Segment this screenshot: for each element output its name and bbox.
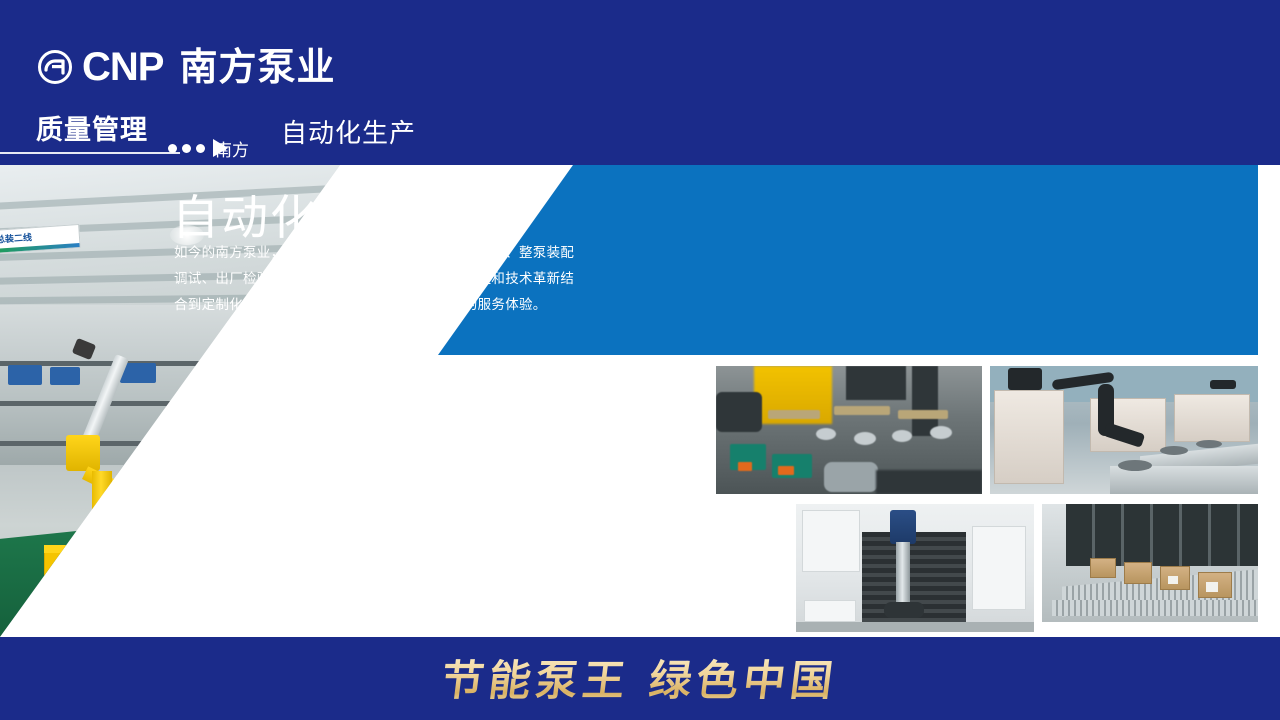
nav-secondary-title[interactable]: 自动化生产 [281,113,416,150]
photo-grid [716,366,1258,632]
panel-title: 自动化生产 [172,179,417,248]
slide-footer: 节能泵王 绿色中国 [0,637,1280,720]
footer-slogan: 节能泵王 绿色中国 [0,647,1280,708]
panel-body-text: 如今的南方泵业，将自动化技术覆盖到零部件加工生产、整泵装配 调试、出厂检验等诸多… [174,240,784,318]
slide-header: CNP 南方泵业 质量管理 南方 自动化生产 [0,0,1280,165]
nav-primary-title[interactable]: 质量管理 [36,108,148,147]
photo-packing-line [1042,504,1258,622]
dot-icon [182,144,191,153]
photo-robot-conveyor [990,366,1258,494]
panel-body-line: 调试、出厂检验等诸多环节，将多年的制泵工艺沉淀和技术革新结 [174,266,784,292]
nav-sub-label[interactable]: 南方 [215,136,249,161]
photo-vertical-pump [796,504,1034,632]
photo-assembly-bench [716,366,982,494]
panel-body-line: 合到定制化的流水线作业，给客户带来科技制泵的服务体验。 [174,292,784,318]
company-logo: CNP 南方泵业 [38,50,335,84]
slide-body: 总装二线 [0,165,1280,637]
logo-text-cnp: CNP [82,50,163,84]
logo-text-chinese: 南方泵业 [179,50,335,84]
panel-body-line: 如今的南方泵业，将自动化技术覆盖到零部件加工生产、整泵装配 [174,240,784,266]
presentation-slide: CNP 南方泵业 质量管理 南方 自动化生产 [0,0,1280,720]
dot-icon [168,144,177,153]
cnp-circular-emblem-icon [38,50,72,84]
nav-underline [0,152,180,154]
dot-icon [196,144,205,153]
